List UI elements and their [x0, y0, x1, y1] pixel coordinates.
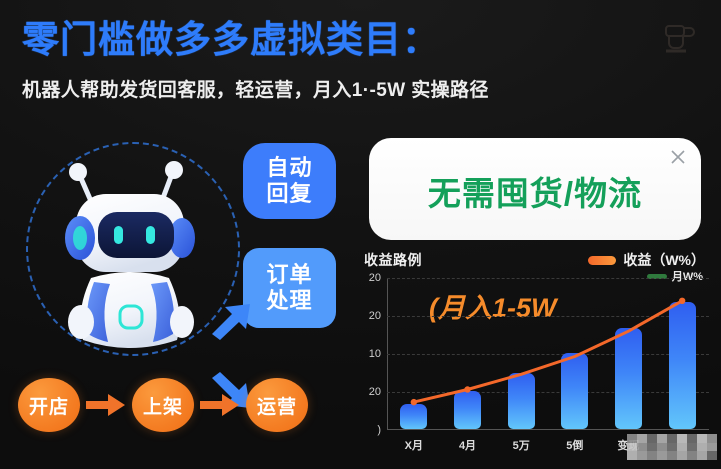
- callout-order-line1: 订单: [266, 262, 312, 288]
- x-axis-tick: 5万: [513, 437, 530, 453]
- step-open-shop-label: 开店: [29, 392, 69, 419]
- robot-illustration: [14, 132, 246, 368]
- page-subtitle: 机器人帮助发货回客服，轻运营，月入1·-5W 实操路径: [22, 78, 489, 104]
- mosaic-tile: [707, 451, 717, 460]
- mosaic-tile: [707, 434, 717, 443]
- mosaic-tile: [627, 434, 637, 443]
- y-axis-tick: 20: [369, 386, 381, 398]
- y-axis-tick: 20: [369, 272, 381, 284]
- step-listing-label: 上架: [143, 392, 183, 419]
- arrow-up-right-icon: [210, 300, 254, 345]
- mosaic-tile: [677, 451, 687, 460]
- arrow-right-icon: [194, 378, 246, 432]
- no-stock-card: 无需囤货/物流: [369, 138, 701, 240]
- callout-order-processing[interactable]: 订单 处理: [243, 248, 336, 328]
- mosaic-tile: [697, 434, 707, 443]
- mosaic-tile: [697, 443, 707, 452]
- mosaic-block: [627, 434, 717, 460]
- page-title: 零门槛做多多虚拟类目：: [22, 17, 440, 63]
- mosaic-tile: [657, 443, 667, 452]
- x-axis-tick: X月: [405, 437, 423, 453]
- legend-swatch-revenue: [588, 256, 616, 265]
- mosaic-tile: [677, 443, 687, 452]
- poster-canvas: 零门槛做多多虚拟类目： 机器人帮助发货回客服，轻运营，月入1·-5W 实操路径: [0, 0, 721, 469]
- revenue-chart: 收益路例 收益（W%） 月W% (月入1-5W 20201020)X月4月5万5…: [357, 250, 713, 460]
- step-flow: 开店 上架 运营: [18, 377, 348, 433]
- x-axis-tick: 5倒: [566, 437, 583, 453]
- mosaic-tile: [647, 451, 657, 460]
- callout-auto-line2: 回复: [266, 181, 312, 207]
- callout-auto-line1: 自动: [266, 155, 312, 181]
- chart-title: 收益路例: [364, 250, 422, 270]
- mosaic-tile: [687, 443, 697, 452]
- mosaic-tile: [697, 451, 707, 460]
- mosaic-tile: [637, 451, 647, 460]
- callout-auto-reply[interactable]: 自动 回复: [243, 143, 336, 219]
- chart-plot-area: 月W% (月入1-5W 20201020)X月4月5万5倒变现: [387, 278, 709, 430]
- mosaic-tile: [687, 434, 697, 443]
- chart-trend-line: [387, 278, 709, 430]
- mosaic-tile: [687, 451, 697, 460]
- callout-order-line2: 处理: [266, 288, 312, 314]
- mosaic-tile: [637, 434, 647, 443]
- mosaic-tile: [657, 451, 667, 460]
- mosaic-tile: [637, 443, 647, 452]
- mosaic-tile: [677, 434, 687, 443]
- legend-label-revenue: 收益（W%）: [623, 250, 705, 270]
- step-open-shop[interactable]: 开店: [18, 378, 80, 432]
- mosaic-tile: [627, 443, 637, 452]
- mosaic-tile: [667, 443, 677, 452]
- arrow-right-icon: [80, 378, 132, 432]
- mosaic-tile: [707, 443, 717, 452]
- chart-legend: 收益（W%）: [588, 250, 705, 270]
- y-axis-tick: 20: [369, 310, 381, 322]
- step-operation-label: 运营: [257, 392, 297, 419]
- step-listing[interactable]: 上架: [132, 378, 194, 432]
- x-axis-tick: 4月: [459, 437, 476, 453]
- mosaic-tile: [647, 434, 657, 443]
- cup-icon: [657, 18, 699, 58]
- step-operation[interactable]: 运营: [246, 378, 308, 432]
- close-icon[interactable]: [669, 148, 687, 166]
- mosaic-tile: [627, 451, 637, 460]
- mosaic-tile: [657, 434, 667, 443]
- mosaic-tile: [647, 443, 657, 452]
- mosaic-tile: [667, 451, 677, 460]
- mosaic-tile: [667, 434, 677, 443]
- y-axis-tick: 10: [369, 348, 381, 360]
- y-axis-tick: ): [377, 424, 381, 436]
- robot-mascot-icon: [36, 146, 226, 356]
- no-stock-card-text: 无需囤货/物流: [428, 167, 642, 215]
